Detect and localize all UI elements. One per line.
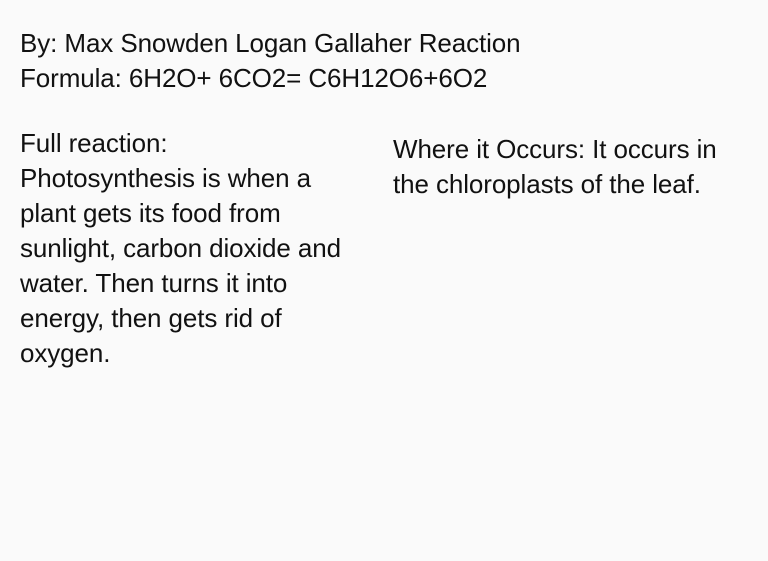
left-column-text: Full reaction:Photosynthesis is when a p… (20, 126, 360, 371)
right-column-text: Where it Occurs: It occurs in the chloro… (393, 132, 738, 202)
full-reaction-body: Photosynthesis is when a plant gets its … (20, 163, 341, 368)
where-it-occurs-body: Where it Occurs: It occurs in the chloro… (393, 134, 717, 199)
slide-canvas: By: Max Snowden Logan Gallaher Reaction … (0, 0, 768, 561)
slide-header: By: Max Snowden Logan Gallaher Reaction … (20, 26, 750, 96)
full-reaction-heading: Full reaction: (20, 126, 360, 161)
right-column: Where it Occurs: It occurs in the chloro… (393, 126, 738, 202)
byline-text: By: Max Snowden Logan Gallaher Reaction (20, 26, 750, 61)
left-column: Full reaction:Photosynthesis is when a p… (20, 126, 360, 371)
formula-text: Formula: 6H2O+ 6CO2= C6H12O6+6O2 (20, 61, 750, 96)
